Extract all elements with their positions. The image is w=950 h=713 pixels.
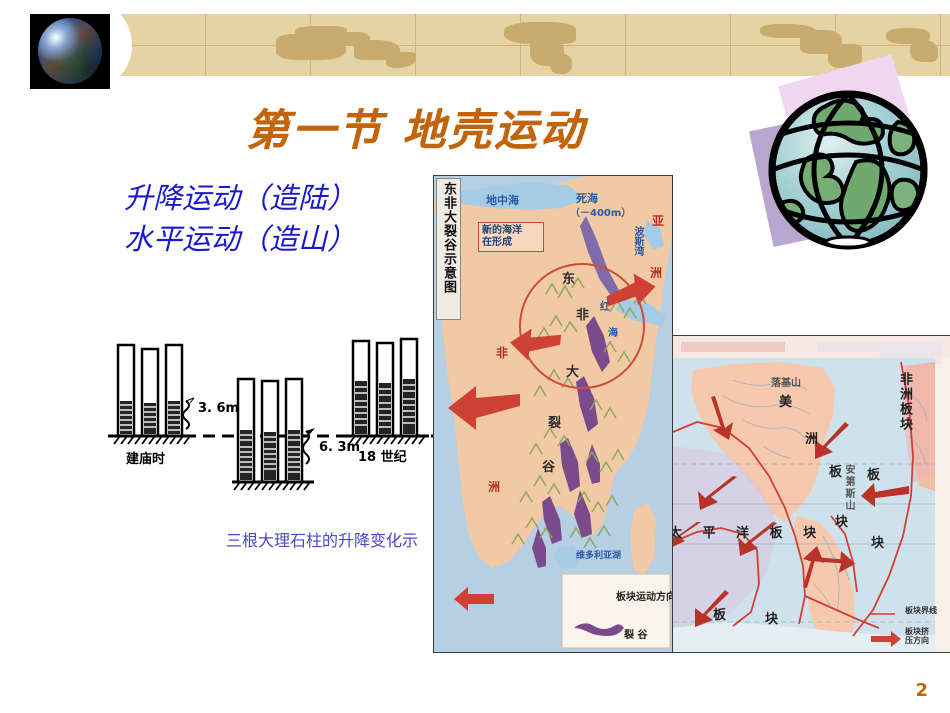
marble-columns-diagram: 3. 6m 建庙时 [108,335,448,510]
group-label-3: 18 世纪 [358,449,407,465]
bullet-item-2: 水平运动（造山） [124,219,444,260]
label-antarctic-plate-2: 块 [765,608,778,627]
east-african-rift-map: 东非大裂谷示意图 地中海 死海 （－400m） 波斯湾 亚 洲 红 海 非 洲 … [433,175,673,653]
label-antarctic-plate-1: 板 [713,604,726,623]
label-andes-mountains: 安第斯山 [841,464,856,512]
label-rift-3: 大 [566,361,579,380]
rift-map-title: 东非大裂谷示意图 [442,182,455,294]
label-america-4: 块 [835,511,848,530]
label-rocky-mountains: 落基山 [771,374,801,389]
rift-legend-text-1: 板块运动方向 [616,588,673,603]
column-group-1: 3. 6m 建庙时 [112,345,239,467]
slide-canvas: 第一节 地壳运动 升降运动（造陆） 水平运动（造山） [0,0,950,713]
group-label-1: 建庙时 [126,451,165,467]
label-africa-plate: 非洲板块 [895,372,914,432]
plate-tectonics-map: 太 平 洋 板 块 美 洲 板 块 非洲板块 板 块 落基山 安第斯山 板 块 … [672,335,950,653]
measure-label-2: 6. 3m [319,440,360,455]
rift-map-title-strip: 东非大裂谷示意图 [436,178,461,320]
plates-legend-text-2: 板块挤 压方向 [905,627,929,645]
label-red-sea-1: 红 [600,298,610,313]
marble-columns-svg: 3. 6m 建庙时 [108,335,448,510]
label-red-sea-2: 海 [608,324,618,339]
label-pacific-plate: 太 平 洋 板 块 [672,522,824,541]
globe-illustration-icon [748,62,948,284]
label-rift-5: 谷 [542,456,555,475]
label-south-america-plate-2: 块 [871,532,884,551]
label-africa-2: 洲 [488,478,500,495]
label-africa-1: 非 [496,344,508,361]
label-rift-1: 东 [562,268,575,287]
label-south-america-plate-1: 板 [867,464,880,483]
label-mediterranean: 地中海 [486,192,519,208]
label-asia-2: 洲 [650,264,662,281]
diagram-caption: 三根大理石柱的升降变化示 [226,527,418,551]
earth-photo-image [30,14,110,89]
label-rift-2: 非 [576,304,589,323]
plates-legend-text-1: 板块界线 [905,606,937,615]
globe-clipart [748,62,948,284]
label-america-1: 美 [779,391,792,410]
rift-callout-new-ocean: 新的海洋 在形成 [478,222,544,252]
label-persian-gulf: 波斯湾 [630,226,645,256]
label-dead-sea-elevation: （－400m） [570,204,631,219]
page-number: 2 [915,680,928,701]
label-asia-1: 亚 [652,212,664,229]
label-america-2: 洲 [805,428,818,447]
page-title: 第一节 地壳运动 [246,96,676,158]
measure-label-1: 3. 6m [198,401,239,416]
earth-globe-shading [38,18,102,84]
rift-legend-text-2: 裂 谷 [624,626,647,641]
label-rift-4: 裂 [548,412,561,431]
bullet-list: 升降运动（造陆） 水平运动（造山） [124,178,444,260]
label-victoria-lake: 维多利亚湖 [576,548,621,561]
bullet-item-1: 升降运动（造陆） [124,178,444,219]
